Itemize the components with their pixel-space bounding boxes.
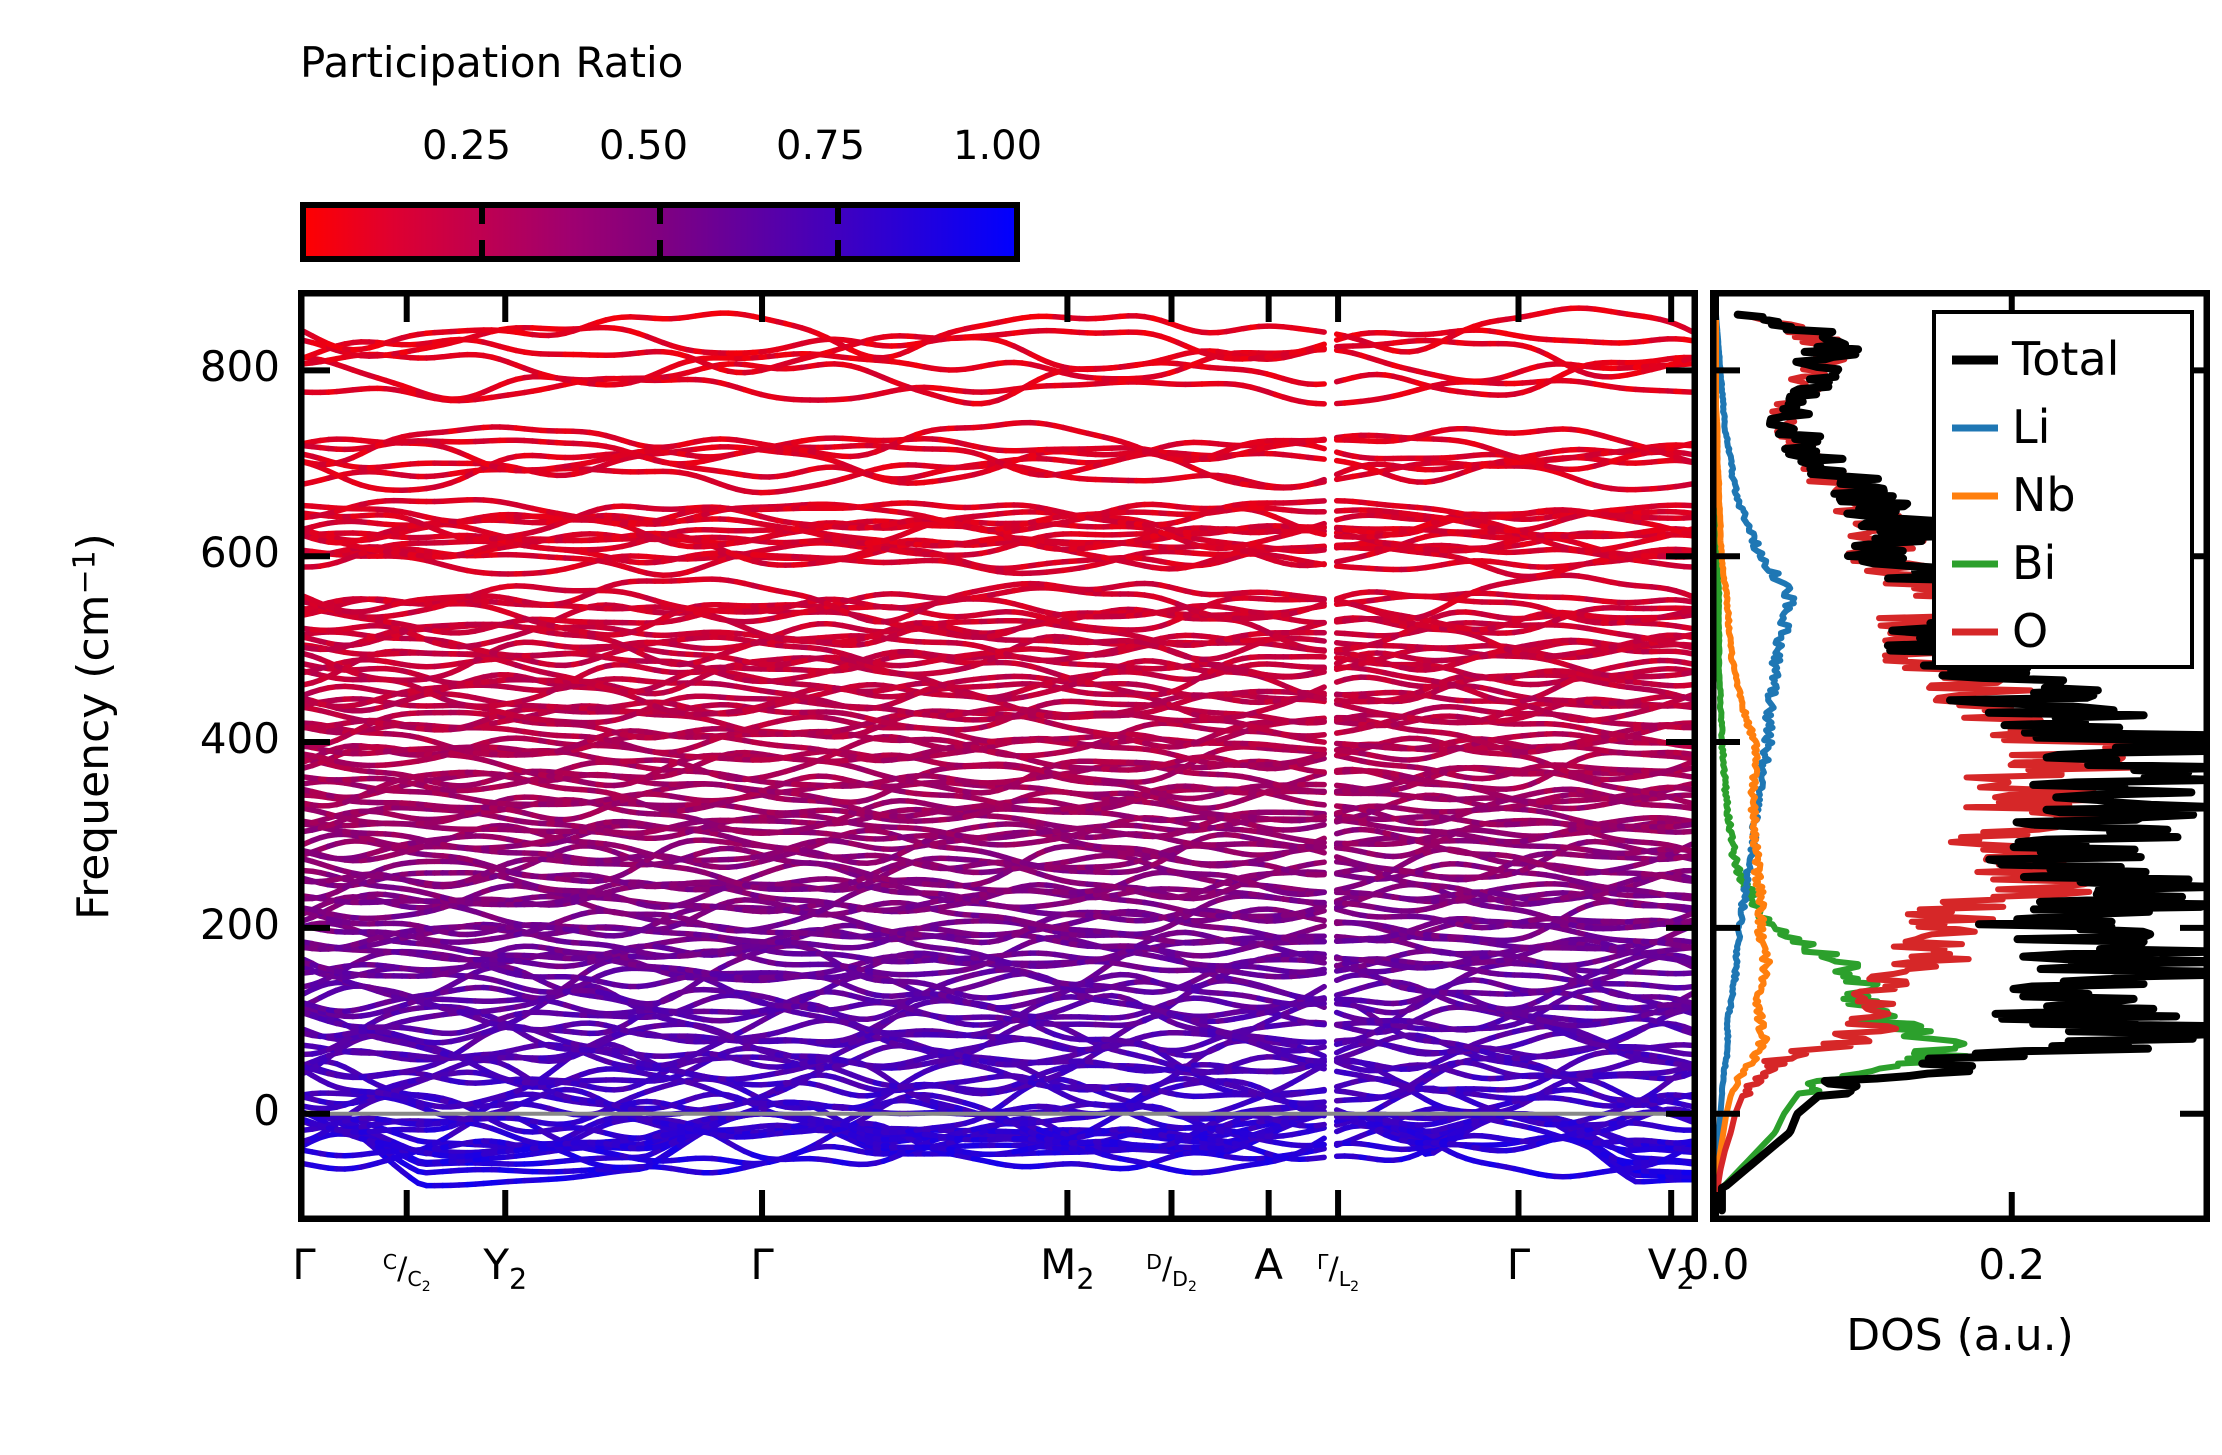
- band-ytick-800: 800: [120, 342, 280, 391]
- band-ylabel: Frequency (cm−1): [68, 533, 119, 920]
- band-ytick-600: 600: [120, 528, 280, 577]
- dos-xtick-0-0: 0.0: [1636, 1240, 1796, 1289]
- colorbar[interactable]: [300, 202, 1020, 262]
- band-xtick-8: Γ: [1439, 1240, 1599, 1289]
- colorbar-title: Participation Ratio: [300, 38, 683, 87]
- band-xtick-7: Γ/L2: [1258, 1240, 1418, 1295]
- figure-root: Participation Ratio 0.250.500.751.00 F: [0, 0, 2222, 1455]
- legend-label-total: Total: [2011, 332, 2119, 386]
- band-xtick-3: Γ: [682, 1240, 842, 1289]
- colorbar-tick-1-00: 1.00: [953, 123, 1042, 169]
- legend-label-o: O: [2012, 604, 2048, 658]
- band-ytick-400: 400: [120, 714, 280, 763]
- colorbar-tick-0-75: 0.75: [776, 123, 865, 169]
- legend-label-nb: Nb: [2012, 468, 2076, 522]
- phonon-dos-panel[interactable]: TotalLiNbBiO: [1710, 290, 2210, 1222]
- phonon-band-structure-panel[interactable]: [298, 290, 1698, 1222]
- band-ylabel-text: Frequency (cm−1): [68, 533, 119, 920]
- band-ytick-200: 200: [120, 900, 280, 949]
- dos-xtick-0-2: 0.2: [1932, 1240, 2092, 1289]
- colorbar-tick-0-25: 0.25: [422, 123, 511, 169]
- legend-label-bi: Bi: [2012, 536, 2056, 590]
- dos-legend[interactable]: TotalLiNbBiO: [1934, 312, 2192, 667]
- band-xtick-2: Y2: [425, 1240, 585, 1296]
- legend-label-li: Li: [2012, 400, 2050, 454]
- band-ytick-0: 0: [120, 1086, 280, 1135]
- colorbar-tick-0-50: 0.50: [599, 123, 688, 169]
- dos-xlabel: DOS (a.u.): [1710, 1310, 2210, 1361]
